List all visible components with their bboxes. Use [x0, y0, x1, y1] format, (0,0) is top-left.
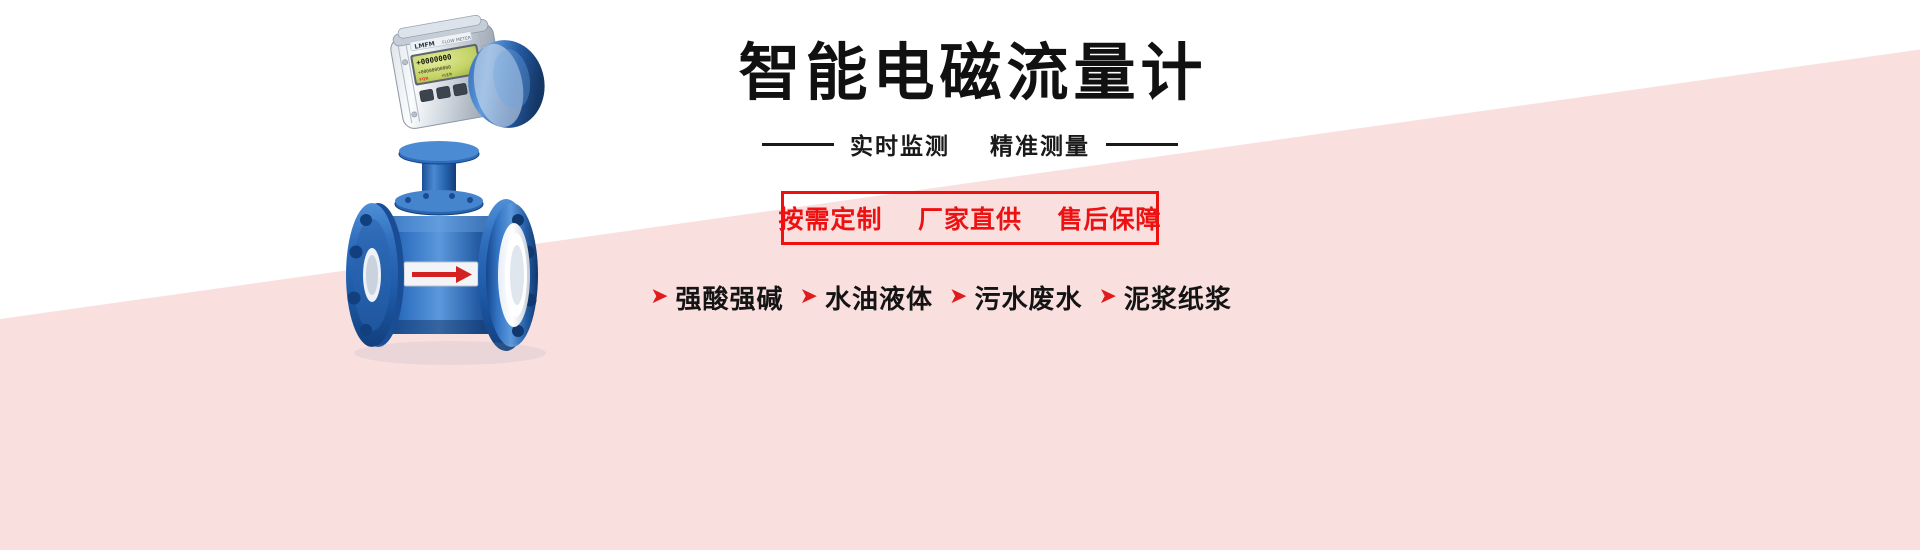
feature-label: 强酸强碱: [676, 279, 784, 316]
subtitle-right: 精准测量: [990, 134, 1090, 160]
subtitle-left: 实时监测: [850, 134, 950, 160]
list-item: ➤ 泥浆纸浆: [1098, 279, 1231, 316]
list-item: ➤ 污水废水: [949, 279, 1082, 316]
arrow-right-icon: ➤: [1098, 286, 1116, 308]
badge-part-1: 按需定制: [779, 205, 883, 234]
badge-text: 按需定制 厂家直供 售后保障: [779, 200, 1162, 236]
badge-part-3: 售后保障: [1057, 205, 1161, 234]
promo-banner: LMFM FLOW METER +0000000 +00000000000 FQ…: [0, 0, 1920, 550]
feature-label: 水油液体: [825, 279, 933, 316]
subtitle-rule-left: [762, 143, 834, 146]
subtitle-rule-right: [1106, 143, 1178, 146]
subtitle-row: 实时监测 精准测量: [660, 127, 1280, 161]
arrow-right-icon: ➤: [650, 286, 668, 308]
feature-label: 泥浆纸浆: [1124, 279, 1232, 316]
page-title: 智能电磁流量计: [666, 40, 1280, 105]
list-item: ➤ 水油液体: [800, 279, 933, 316]
product-image-flowmeter: LMFM FLOW METER +0000000 +00000000000 FQ…: [300, 8, 630, 408]
banner-copy: 智能电磁流量计 实时监测 精准测量 按需定制 厂家直供 售后保障 ➤ 强酸强碱: [660, 40, 1280, 316]
subtitle-text: 实时监测 精准测量: [850, 127, 1090, 161]
arrow-right-icon: ➤: [800, 286, 818, 308]
status-badge: 按需定制 厂家直供 售后保障: [781, 191, 1159, 245]
arrow-right-icon: ➤: [949, 286, 967, 308]
badge-part-2: 厂家直供: [918, 205, 1022, 234]
feature-list: ➤ 强酸强碱 ➤ 水油液体 ➤ 污水废水 ➤ 泥浆纸浆: [612, 279, 1280, 316]
feature-label: 污水废水: [974, 279, 1082, 316]
list-item: ➤ 强酸强碱: [650, 279, 783, 316]
